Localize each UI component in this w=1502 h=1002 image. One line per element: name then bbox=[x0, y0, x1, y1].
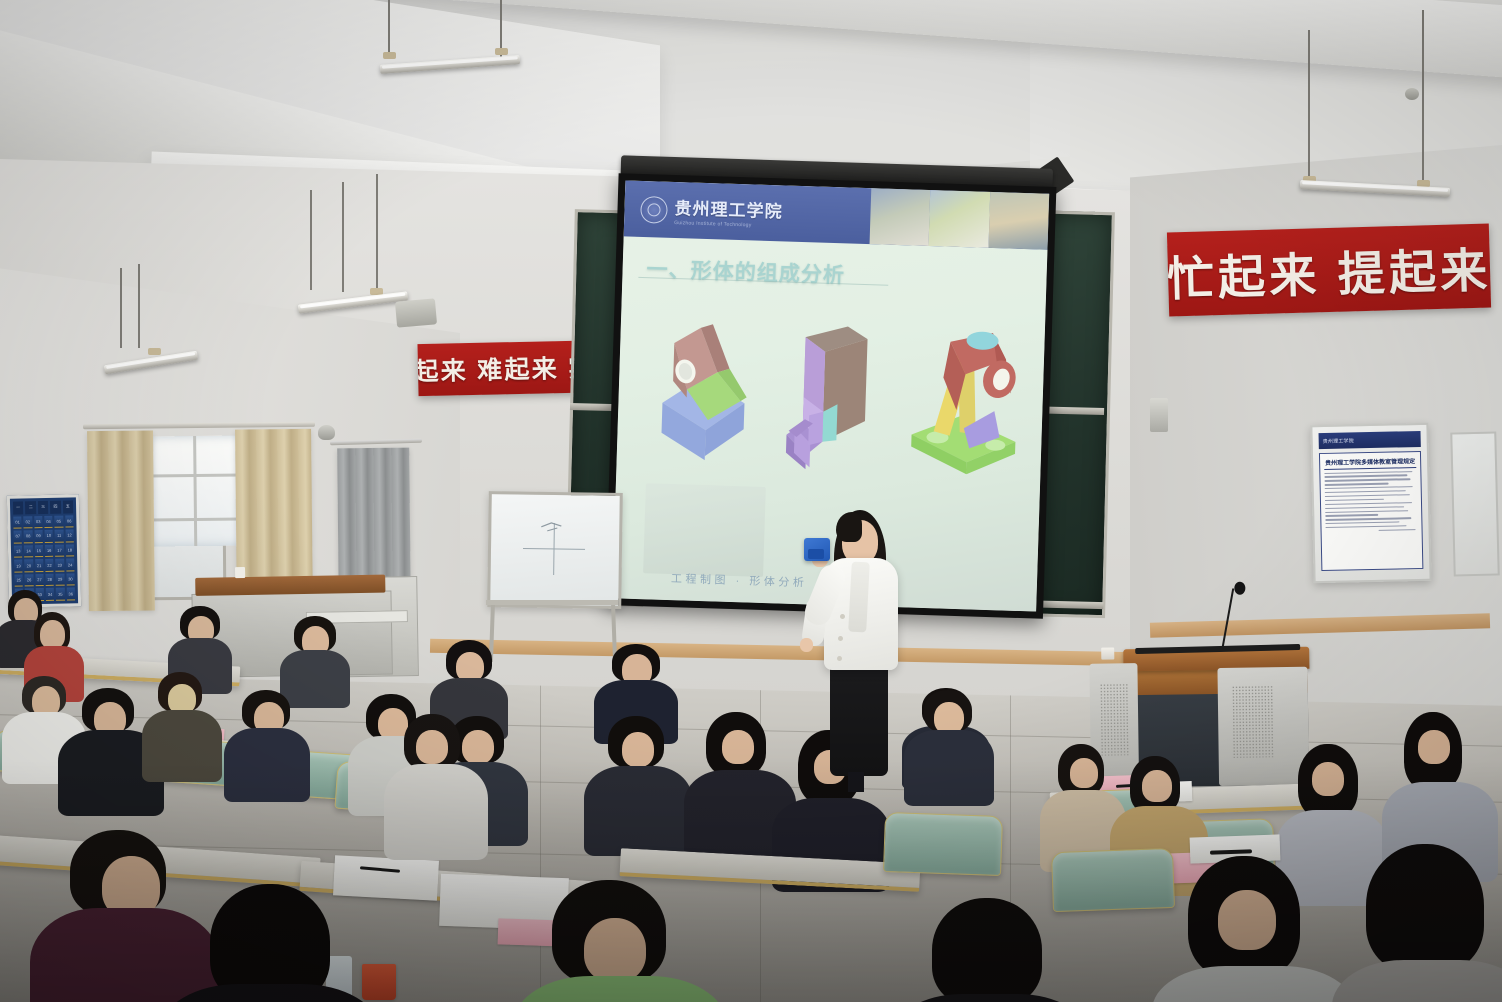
pocket-slot: 18 bbox=[66, 544, 75, 557]
pocket-chart-row: 19 20 21 22 23 24 bbox=[14, 559, 74, 573]
pc-header-cell: 三 bbox=[38, 501, 49, 514]
pocket-slot: 12 bbox=[65, 530, 74, 543]
slide-3d-models bbox=[630, 299, 1035, 481]
slide-header-bar: 贵州理工学院 Guizhou Institute of Technology bbox=[624, 180, 1050, 249]
pocket-slot: 24 bbox=[66, 559, 75, 572]
wall-banner-right: 忙起来 提起来 bbox=[1167, 224, 1491, 317]
header-photo-2 bbox=[929, 190, 990, 248]
whiteboard-marker-tray bbox=[486, 600, 618, 605]
pocket-slot: 05 bbox=[55, 515, 64, 528]
pocket-chart-row: 01 02 03 04 05 06 bbox=[13, 515, 73, 529]
paper-cup bbox=[235, 567, 245, 578]
blue-3d-model-prop bbox=[804, 538, 830, 561]
pocket-slot: 09 bbox=[34, 530, 43, 543]
pocket-slot: 30 bbox=[66, 573, 75, 586]
model-bracket-1 bbox=[641, 314, 756, 472]
pocket-slot: 22 bbox=[45, 559, 54, 572]
pocket-slot: 21 bbox=[35, 559, 44, 572]
instructor-hand-lower bbox=[800, 638, 813, 652]
pocket-slot: 13 bbox=[14, 545, 23, 558]
pocket-slot: 19 bbox=[14, 560, 23, 573]
pocket-slot: 06 bbox=[65, 515, 74, 528]
instructor-skirt bbox=[830, 664, 888, 776]
pc-header-cell: 一 bbox=[13, 501, 24, 514]
poster-title: 贵州理工学院多媒体教室管理规定 bbox=[1324, 456, 1416, 470]
pocket-slot: 23 bbox=[55, 559, 64, 572]
pc-header-cell: 四 bbox=[50, 501, 61, 514]
instructor-legs bbox=[848, 772, 864, 792]
pocket-slot: 03 bbox=[34, 516, 43, 529]
window-curtain-left bbox=[87, 430, 155, 611]
poster-body: 贵州理工学院多媒体教室管理规定 bbox=[1319, 451, 1423, 571]
pocket-chart-row: 13 14 15 16 17 18 bbox=[14, 544, 74, 558]
slide-header-thumbnails bbox=[870, 188, 1050, 250]
pocket-slot: 15 bbox=[35, 545, 44, 558]
whiteboard-sketch bbox=[517, 516, 592, 579]
pocket-slot: 28 bbox=[45, 574, 54, 587]
pocket-slot: 27 bbox=[35, 574, 44, 587]
poster-header: 贵州理工学院 bbox=[1319, 431, 1421, 449]
pocket-chart-row: 25 26 27 28 29 30 bbox=[14, 573, 74, 587]
microphone-icon bbox=[1234, 582, 1245, 595]
lectern-speaker-right bbox=[1217, 667, 1309, 786]
pocket-slot: 07 bbox=[14, 531, 23, 544]
poster-header-text: 贵州理工学院 bbox=[1323, 437, 1354, 445]
chair-back bbox=[883, 812, 1003, 876]
instructor-lapel bbox=[848, 562, 870, 633]
notebook bbox=[333, 855, 439, 900]
instructor-hair-front bbox=[836, 512, 862, 542]
slide-title: 一、形体的组成分析 bbox=[646, 253, 845, 289]
slide-footer-photo bbox=[643, 483, 766, 577]
pocket-slot: 17 bbox=[55, 544, 64, 557]
header-photo-3 bbox=[988, 192, 1049, 250]
pocket-slot: 11 bbox=[55, 530, 64, 543]
pocket-slot: 29 bbox=[56, 573, 65, 586]
desk-top bbox=[195, 575, 385, 596]
pocket-slot: 04 bbox=[44, 515, 53, 528]
wall-poster-secondary bbox=[1450, 431, 1500, 576]
pc-header-cell: 五 bbox=[63, 500, 74, 513]
pocket-slot: 25 bbox=[14, 574, 23, 587]
wall-poster-regulations: 贵州理工学院 贵州理工学院多媒体教室管理规定 bbox=[1310, 423, 1431, 583]
university-seal-icon bbox=[640, 195, 668, 223]
slide-footer-text: 工程制图 · 形体分析 bbox=[671, 570, 808, 590]
lectern-cup bbox=[1101, 647, 1114, 659]
red-cup bbox=[362, 964, 396, 1000]
instructor bbox=[806, 506, 926, 796]
pocket-slot: 35 bbox=[56, 588, 65, 601]
university-name-cn: 贵州理工学院 bbox=[674, 194, 783, 222]
pocket-slot: 08 bbox=[24, 530, 33, 543]
pocket-chart-header-row: 一 二 三 四 五 bbox=[13, 500, 73, 514]
model-rib-block-2 bbox=[771, 318, 886, 476]
window-glass bbox=[149, 436, 242, 547]
ceiling-speaker bbox=[1405, 88, 1419, 100]
pocket-slot: 20 bbox=[25, 560, 34, 573]
pocket-slot: 02 bbox=[24, 516, 33, 529]
classroom-photo: 忙起来 提起来 严起来 难起来 实起来 贵州理工学院 bbox=[0, 0, 1502, 1002]
pocket-slot: 26 bbox=[25, 574, 34, 587]
university-logo: 贵州理工学院 Guizhou Institute of Technology bbox=[624, 192, 783, 229]
pocket-slot: 01 bbox=[13, 516, 22, 529]
model-bearing-seat-3 bbox=[902, 322, 1025, 481]
pocket-slot: 36 bbox=[66, 588, 75, 601]
pocket-slot: 16 bbox=[45, 545, 54, 558]
pc-header-cell: 二 bbox=[25, 501, 36, 514]
projector-mount bbox=[396, 300, 436, 326]
ceiling-speaker bbox=[318, 425, 335, 440]
header-photo-1 bbox=[870, 188, 931, 246]
mobile-whiteboard bbox=[487, 491, 623, 609]
pocket-slot: 34 bbox=[46, 588, 55, 601]
pocket-slot: 14 bbox=[24, 545, 33, 558]
pocket-slot: 10 bbox=[45, 530, 54, 543]
pocket-chart-row: 07 08 09 10 11 12 bbox=[14, 530, 74, 544]
chair-back bbox=[1051, 848, 1175, 912]
banner-right-text: 忙起来 提起来 bbox=[1167, 231, 1491, 309]
